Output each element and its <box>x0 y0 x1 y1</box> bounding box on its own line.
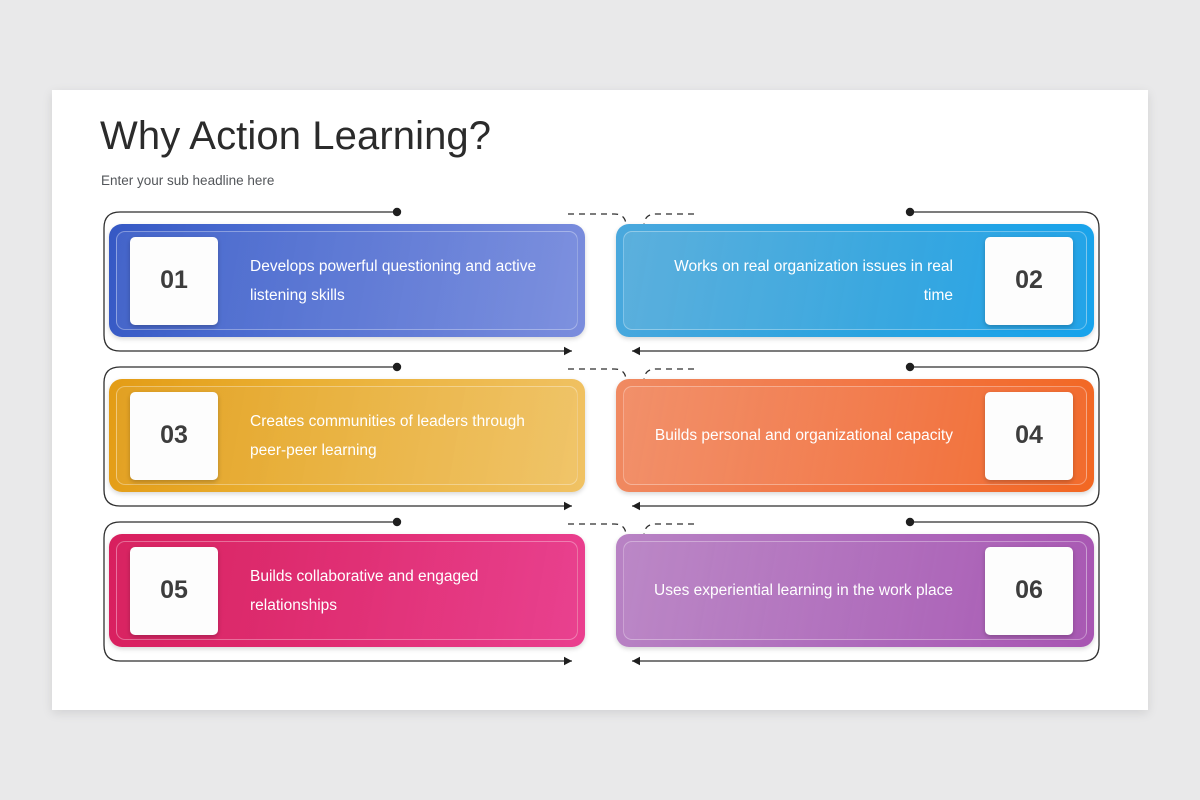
card-text-03: Creates communities of leaders through p… <box>218 407 578 465</box>
card-number-03: 03 <box>130 392 218 480</box>
card-03[interactable]: 03 Creates communities of leaders throug… <box>109 379 585 492</box>
card-number-05: 05 <box>130 547 218 635</box>
card-number-06: 06 <box>985 547 1073 635</box>
card-04[interactable]: 04 Builds personal and organizational ca… <box>616 379 1094 492</box>
card-text-05: Builds collaborative and engaged relatio… <box>218 562 578 620</box>
page-subtitle: Enter your sub headline here <box>101 173 274 188</box>
card-text-01: Develops powerful questioning and active… <box>218 252 578 310</box>
card-01[interactable]: 01 Develops powerful questioning and act… <box>109 224 585 337</box>
card-row-3: 05 Builds collaborative and engaged rela… <box>52 518 1148 673</box>
card-row-1: 01 Develops powerful questioning and act… <box>52 208 1148 363</box>
card-text-06: Uses experiential learning in the work p… <box>623 576 985 605</box>
card-text-02: Works on real organization issues in rea… <box>623 252 985 310</box>
page-title: Why Action Learning? <box>100 114 491 159</box>
card-number-04: 04 <box>985 392 1073 480</box>
card-05[interactable]: 05 Builds collaborative and engaged rela… <box>109 534 585 647</box>
card-number-02: 02 <box>985 237 1073 325</box>
card-06[interactable]: 06 Uses experiential learning in the wor… <box>616 534 1094 647</box>
card-text-04: Builds personal and organizational capac… <box>623 421 985 450</box>
card-number-01: 01 <box>130 237 218 325</box>
slide-canvas: Why Action Learning? Enter your sub head… <box>52 90 1148 710</box>
card-02[interactable]: 02 Works on real organization issues in … <box>616 224 1094 337</box>
card-row-2: 03 Creates communities of leaders throug… <box>52 363 1148 518</box>
